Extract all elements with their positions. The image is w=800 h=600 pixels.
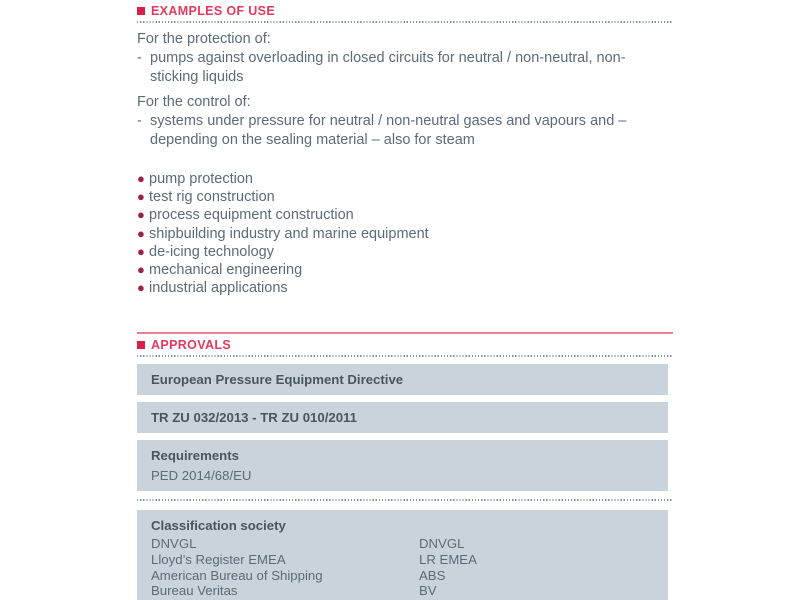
bullet-dot-icon: ●	[137, 206, 149, 224]
list-item-label: process equipment construction	[149, 206, 354, 224]
list-item: ●mechanical engineering	[137, 261, 673, 279]
bullet-dot-icon: ●	[137, 243, 149, 261]
table-row: American Bureau of Shipping ABS	[151, 568, 668, 584]
band-title: TR ZU 032/2013 - TR ZU 010/2011	[151, 409, 668, 426]
control-dash-text: systems under pressure for neutral / non…	[150, 112, 673, 150]
society-abbr: DNVGL	[419, 536, 668, 552]
society-name: Lloyd’s Register EMEA	[151, 552, 419, 568]
list-item-label: shipbuilding industry and marine equipme…	[149, 225, 429, 243]
dotted-divider	[137, 355, 673, 357]
section-heading-label: EXAMPLES OF USE	[151, 4, 275, 18]
bullet-dot-icon: ●	[137, 225, 149, 243]
protection-line-1: pumps against overloading in closed circ…	[150, 50, 593, 66]
band-classification-society: Classification society DNVGL DNVGL Lloyd…	[137, 510, 668, 600]
society-name: DNVGL	[151, 536, 419, 552]
protection-dash-item: - pumps against overloading in closed ci…	[137, 49, 673, 87]
section-heading-label: APPROVALS	[151, 338, 231, 352]
list-item-label: pump protection	[149, 170, 253, 188]
applications-bullet-list: ●pump protection ●test rig construction …	[137, 170, 673, 297]
protection-dash-text: pumps against overloading in closed circ…	[150, 49, 673, 87]
bullet-dot-icon: ●	[137, 279, 149, 297]
society-abbr: BV	[419, 583, 668, 599]
spacer	[137, 433, 673, 440]
section-heading-approvals: APPROVALS	[137, 334, 673, 355]
dotted-divider	[137, 499, 673, 501]
list-item: ●de-icing technology	[137, 243, 673, 261]
dash-marker: -	[137, 49, 150, 87]
society-name: Bureau Veritas	[151, 583, 419, 599]
document-content: EXAMPLES OF USE For the protection of: -…	[137, 0, 673, 600]
list-item-label: industrial applications	[149, 279, 288, 297]
society-abbr: ABS	[419, 568, 668, 584]
list-item-label: mechanical engineering	[149, 261, 302, 279]
society-abbr: LR EMEA	[419, 552, 668, 568]
requirements-title: Requirements	[151, 447, 668, 464]
spacer	[137, 297, 673, 332]
intro-protection: For the protection of:	[137, 30, 673, 49]
society-name: American Bureau of Shipping	[151, 568, 419, 584]
band-european-pressure-equipment-directive: European Pressure Equipment Directive	[137, 364, 668, 395]
square-bullet-icon	[137, 7, 145, 15]
table-row: Bureau Veritas BV	[151, 583, 668, 599]
table-row: Lloyd’s Register EMEA LR EMEA	[151, 552, 668, 568]
list-item: ●test rig construction	[137, 188, 673, 206]
band-requirements: Requirements PED 2014/68/EU	[137, 440, 668, 491]
list-item-label: de-icing technology	[149, 243, 274, 261]
bullet-dot-icon: ●	[137, 170, 149, 188]
square-bullet-icon	[137, 341, 145, 349]
dotted-divider	[137, 21, 673, 23]
list-item-label: test rig construction	[149, 188, 275, 206]
spacer	[137, 150, 673, 170]
list-item: ●process equipment construction	[137, 206, 673, 224]
control-dash-item: - systems under pressure for neutral / n…	[137, 112, 673, 150]
table-row: DNVGL DNVGL	[151, 536, 668, 552]
control-line-1: systems under pressure for neutral / non…	[150, 113, 614, 129]
document-page: EXAMPLES OF USE For the protection of: -…	[0, 0, 800, 600]
band-tr-zu: TR ZU 032/2013 - TR ZU 010/2011	[137, 402, 668, 433]
bullet-dot-icon: ●	[137, 188, 149, 206]
list-item: ●pump protection	[137, 170, 673, 188]
section-heading-examples-of-use: EXAMPLES OF USE	[137, 0, 673, 21]
intro-control: For the control of:	[137, 93, 673, 112]
list-item: ●shipbuilding industry and marine equipm…	[137, 225, 673, 243]
classification-title: Classification society	[151, 517, 668, 534]
band-title: European Pressure Equipment Directive	[151, 371, 668, 388]
bullet-dot-icon: ●	[137, 261, 149, 279]
spacer	[137, 395, 673, 402]
classification-table: DNVGL DNVGL Lloyd’s Register EMEA LR EME…	[151, 534, 668, 600]
spacer	[137, 491, 673, 499]
dash-marker: -	[137, 112, 150, 150]
requirements-value: PED 2014/68/EU	[151, 464, 668, 484]
list-item: ●industrial applications	[137, 279, 673, 297]
